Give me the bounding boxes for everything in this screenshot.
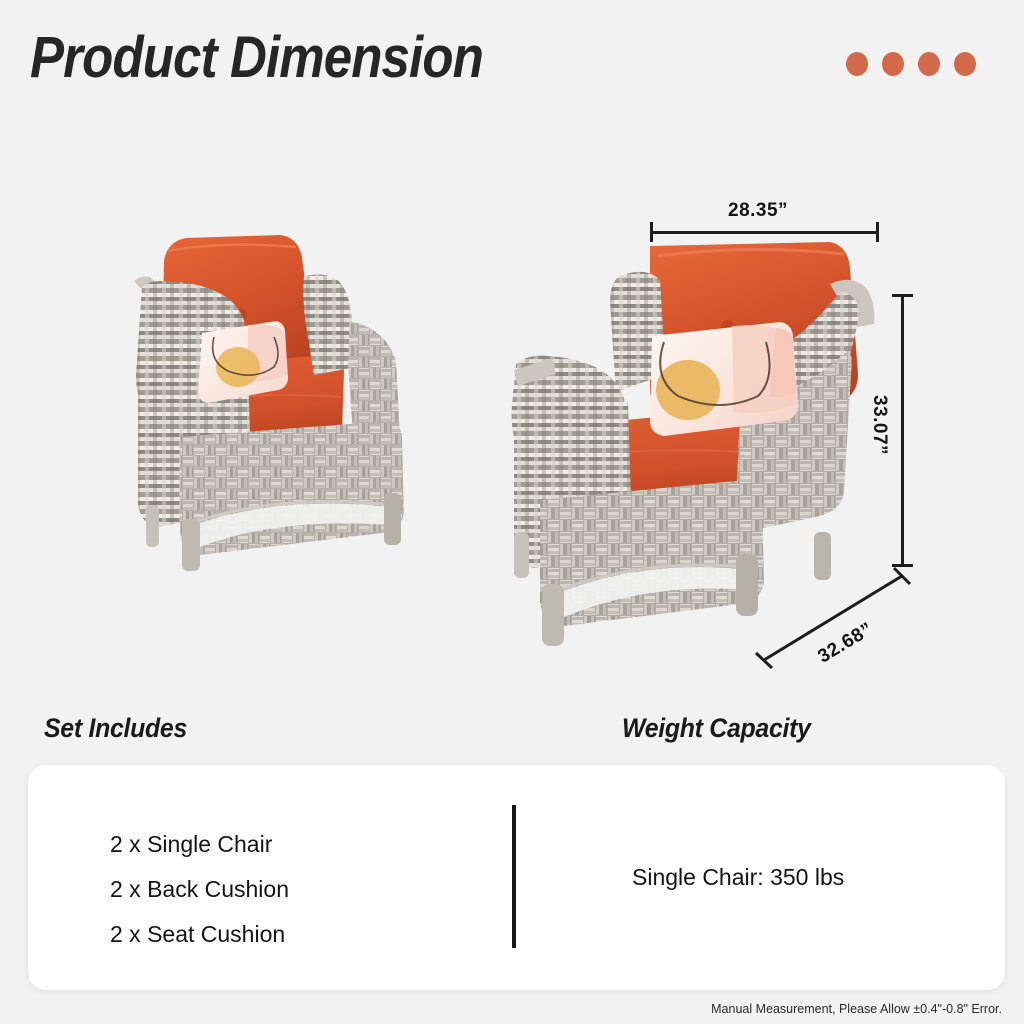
dimension-width-tick-left (650, 222, 653, 242)
chair-leg-back-left (514, 532, 529, 578)
list-item: 2 x Single Chair (110, 822, 289, 867)
set-includes-heading: Set Includes (44, 713, 187, 744)
infographic-canvas: Product Dimension (0, 0, 1024, 1024)
set-includes-list: 2 x Single Chair 2 x Back Cushion 2 x Se… (110, 822, 289, 957)
dimension-height-label: 33.07” (868, 395, 890, 455)
chair-leg-front-right (384, 493, 401, 545)
chair-left-illustration (128, 225, 458, 600)
list-item: 2 x Seat Cushion (110, 912, 289, 957)
weight-capacity-value: Single Chair: 350 lbs (632, 864, 844, 891)
accent-dot-icon (846, 52, 868, 76)
accent-dot-icon (882, 52, 904, 76)
chair-leg-front-left (542, 584, 564, 646)
dimension-width-tick-right (876, 222, 879, 242)
list-item: 2 x Back Cushion (110, 867, 289, 912)
weight-capacity-heading: Weight Capacity (622, 713, 811, 744)
accent-dot-icon (918, 52, 940, 76)
dimension-height-tick-top (892, 294, 913, 297)
dimension-width-line (650, 231, 879, 234)
decorative-dot-group (846, 52, 976, 76)
section-divider (512, 805, 516, 948)
product-image-chair-left (128, 225, 458, 600)
dimension-width-label: 28.35” (728, 200, 788, 222)
chair-leg-front-left (182, 519, 200, 571)
measurement-disclaimer: Manual Measurement, Please Allow ±0.4"-0… (711, 1002, 1002, 1016)
accent-dot-icon (954, 52, 976, 76)
page-title: Product Dimension (30, 24, 483, 91)
pillow-circle-accent (656, 360, 720, 420)
chair-leg-back-left (146, 505, 159, 547)
throw-pillow-right (650, 322, 798, 436)
dimension-height-line (901, 294, 904, 567)
